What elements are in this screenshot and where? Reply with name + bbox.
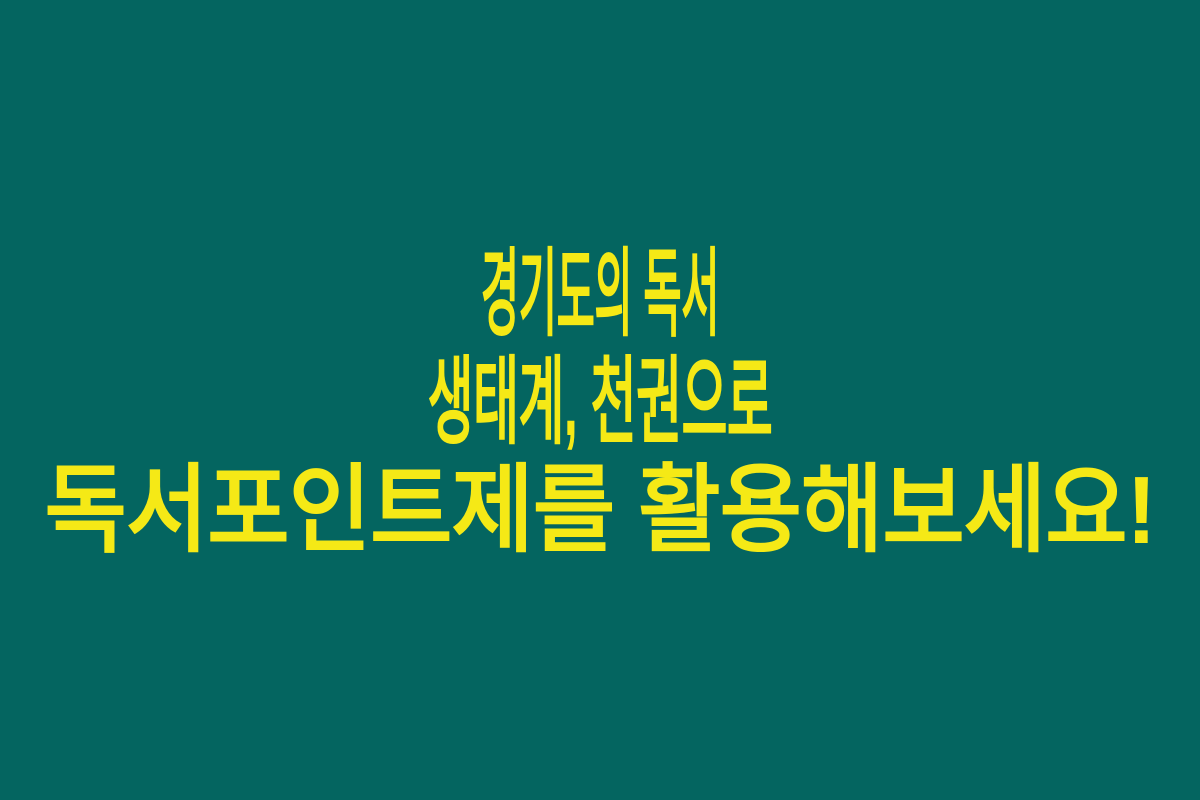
poster-canvas: 경기도의 독서 생태계, 천권으로 독서포인트제를 활용해보세요! [0,0,1200,800]
headline-line-1: 경기도의 독서 [340,241,860,349]
headline-line-3: 독서포인트제를 활용해보세요! [41,457,1159,565]
headline-block: 경기도의 독서 생태계, 천권으로 독서포인트제를 활용해보세요! [0,241,1200,565]
headline-line-2: 생태계, 천권으로 [288,349,912,457]
